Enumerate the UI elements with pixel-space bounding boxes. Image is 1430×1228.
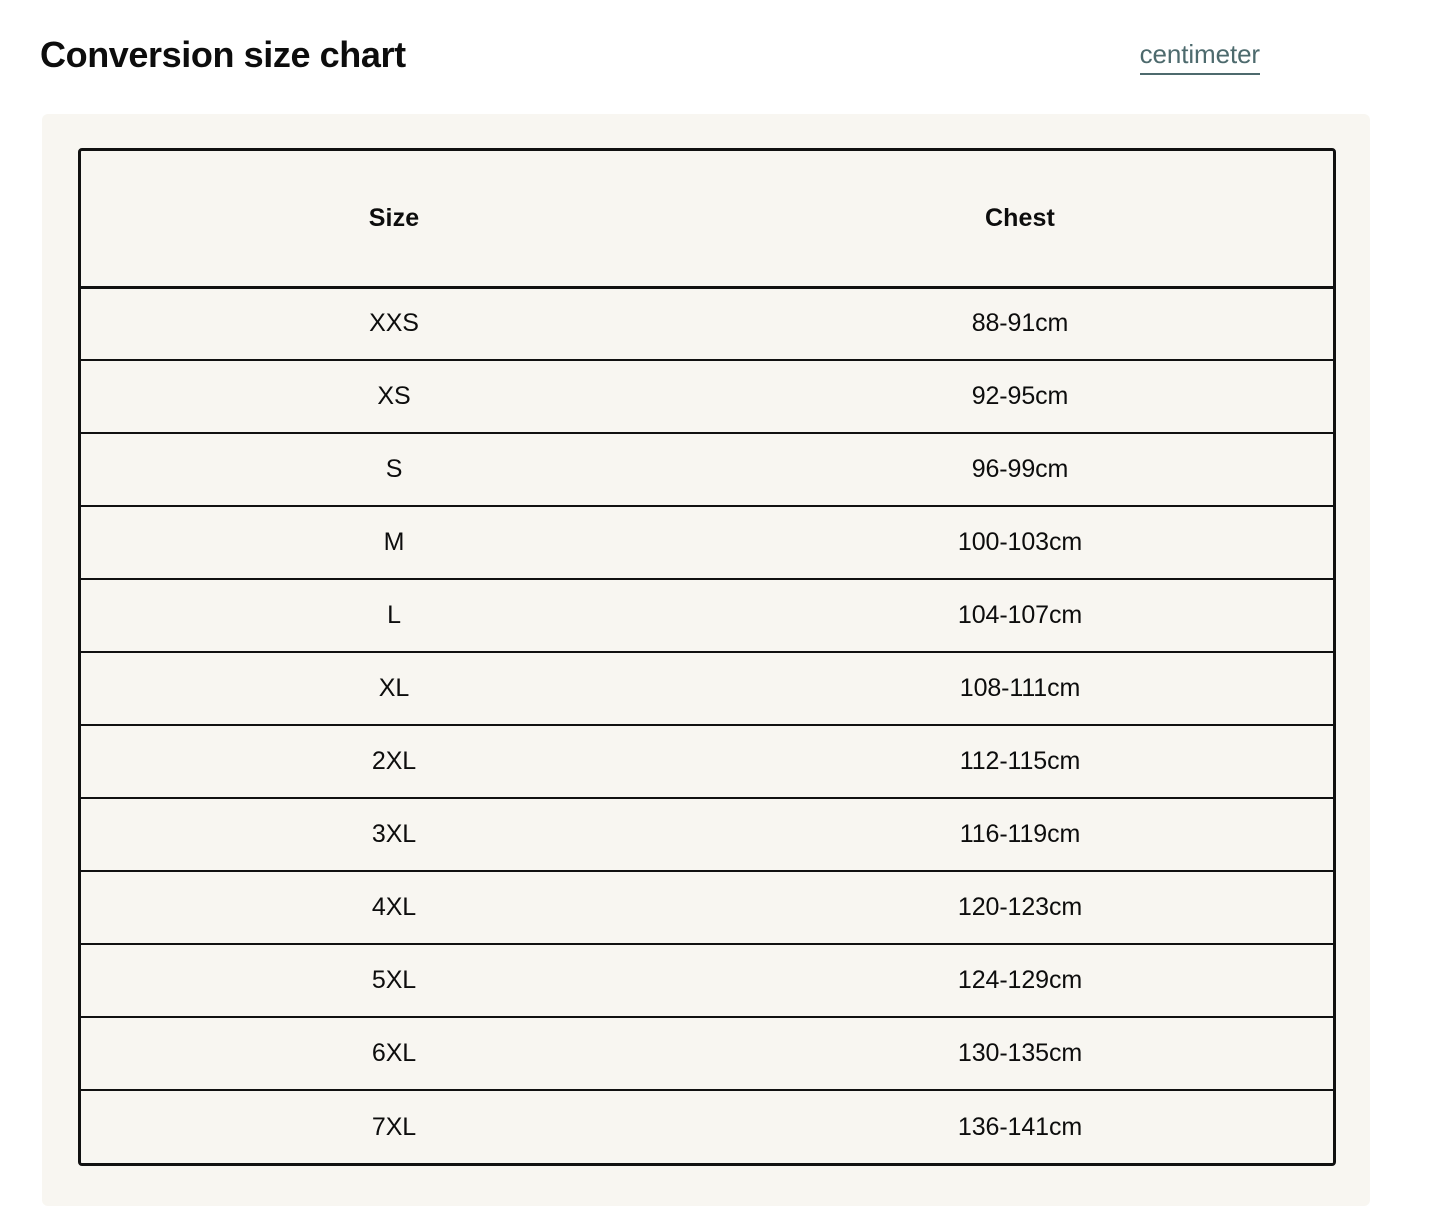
table-row: 3XL116-119cm <box>81 798 1333 871</box>
table-row: XS92-95cm <box>81 360 1333 433</box>
cell-size: 5XL <box>81 944 707 1017</box>
column-header-chest: Chest <box>707 151 1333 287</box>
cell-size: 4XL <box>81 871 707 944</box>
table-row: 7XL136-141cm <box>81 1090 1333 1163</box>
cell-size: L <box>81 579 707 652</box>
table-row: XL108-111cm <box>81 652 1333 725</box>
cell-size: XL <box>81 652 707 725</box>
cell-size: S <box>81 433 707 506</box>
table-row: XXS88-91cm <box>81 287 1333 360</box>
table-header-row: Size Chest <box>81 151 1333 287</box>
size-chart-card: Size Chest XXS88-91cmXS92-95cmS96-99cmM1… <box>42 114 1370 1206</box>
cell-size: 2XL <box>81 725 707 798</box>
cell-chest: 104-107cm <box>707 579 1333 652</box>
table-body: XXS88-91cmXS92-95cmS96-99cmM100-103cmL10… <box>81 287 1333 1163</box>
cell-chest: 96-99cm <box>707 433 1333 506</box>
table-row: 6XL130-135cm <box>81 1017 1333 1090</box>
cell-size: 6XL <box>81 1017 707 1090</box>
table-row: 2XL112-115cm <box>81 725 1333 798</box>
size-chart-page: Conversion size chart centimeter Size Ch… <box>0 0 1430 1228</box>
cell-chest: 136-141cm <box>707 1090 1333 1163</box>
cell-chest: 116-119cm <box>707 798 1333 871</box>
table-head: Size Chest <box>81 151 1333 287</box>
cell-chest: 92-95cm <box>707 360 1333 433</box>
cell-size: 7XL <box>81 1090 707 1163</box>
cell-size: XXS <box>81 287 707 360</box>
cell-chest: 88-91cm <box>707 287 1333 360</box>
cell-chest: 108-111cm <box>707 652 1333 725</box>
page-title: Conversion size chart <box>40 33 406 77</box>
cell-size: M <box>81 506 707 579</box>
cell-size: XS <box>81 360 707 433</box>
unit-toggle-link[interactable]: centimeter <box>1140 37 1260 75</box>
cell-size: 3XL <box>81 798 707 871</box>
cell-chest: 112-115cm <box>707 725 1333 798</box>
column-header-size: Size <box>81 151 707 287</box>
table-row: M100-103cm <box>81 506 1333 579</box>
cell-chest: 120-123cm <box>707 871 1333 944</box>
size-chart-table: Size Chest XXS88-91cmXS92-95cmS96-99cmM1… <box>81 151 1333 1163</box>
table-row: 5XL124-129cm <box>81 944 1333 1017</box>
cell-chest: 130-135cm <box>707 1017 1333 1090</box>
table-row: S96-99cm <box>81 433 1333 506</box>
cell-chest: 100-103cm <box>707 506 1333 579</box>
cell-chest: 124-129cm <box>707 944 1333 1017</box>
table-row: 4XL120-123cm <box>81 871 1333 944</box>
table-row: L104-107cm <box>81 579 1333 652</box>
page-header: Conversion size chart centimeter <box>0 0 1430 112</box>
size-chart-table-wrapper: Size Chest XXS88-91cmXS92-95cmS96-99cmM1… <box>78 148 1336 1166</box>
